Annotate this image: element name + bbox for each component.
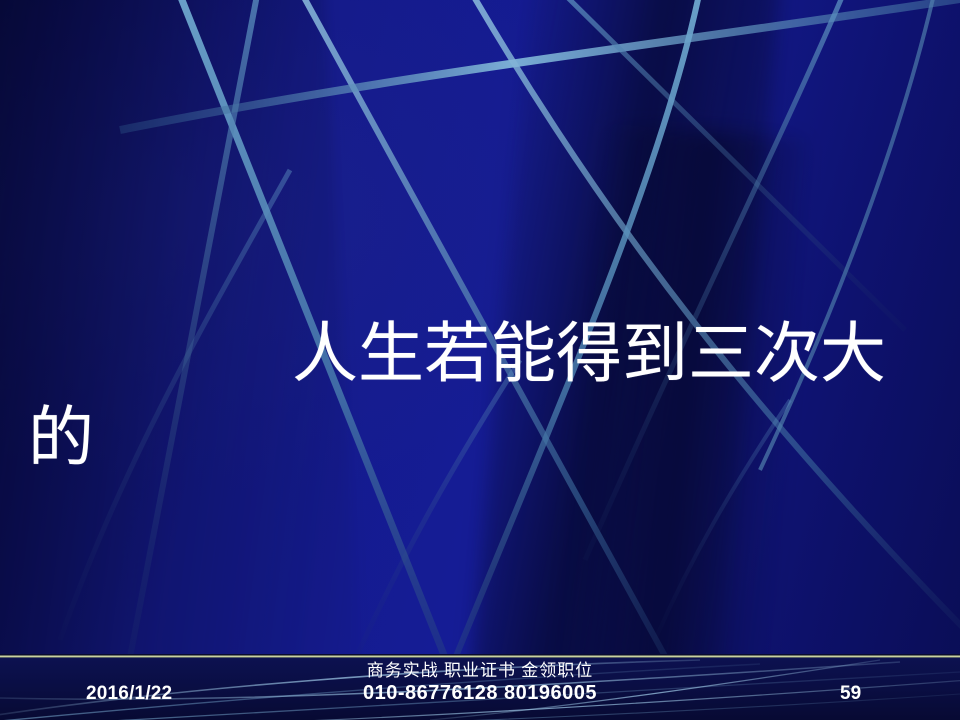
presentation-slide: 人生若能得到三次大的 灵感，就能创造机遇；人生 若能抓住三次大的机遇，就 能创造… [0,0,960,720]
footer-tagline: 商务实战 职业证书 金领职位 [0,660,960,681]
footer-phone: 010-86776128 80196005 [0,681,960,705]
footer-page-number: 59 [840,683,900,705]
footer-center-block: 商务实战 职业证书 金领职位 010-86776128 80196005 [0,660,960,705]
body-line-1: 人生若能得到三次大的 [28,313,932,481]
slide-body-text: 人生若能得到三次大的 灵感，就能创造机遇；人生 若能抓住三次大的机遇，就 能创造… [28,145,932,720]
